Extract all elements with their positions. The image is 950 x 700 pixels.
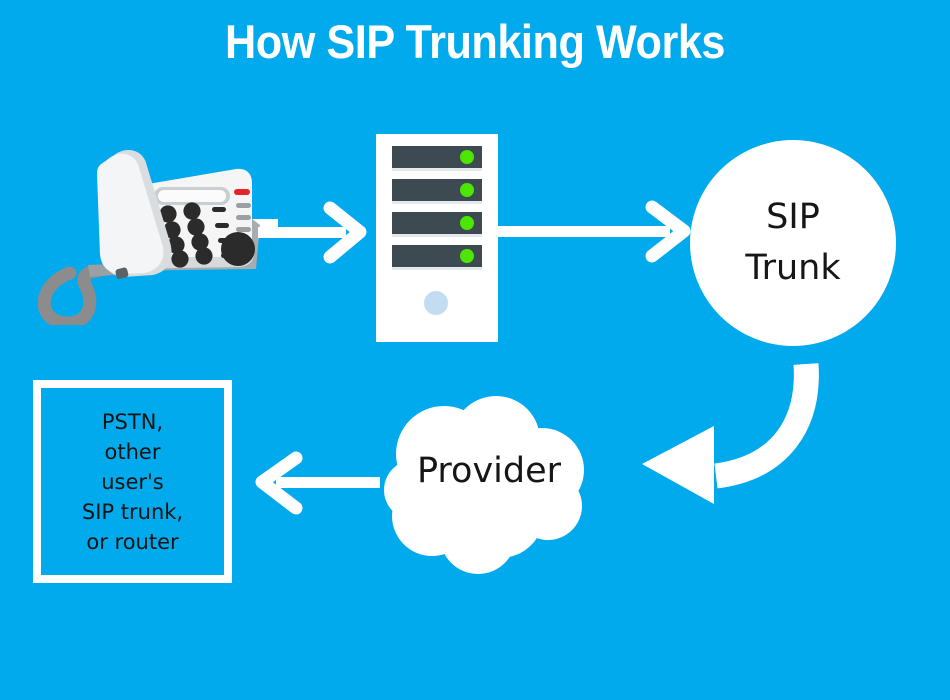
node-provider-label: Provider	[378, 450, 600, 492]
arrow-provider-to-pstn	[248, 448, 380, 518]
arrow-server-to-sip-trunk	[492, 198, 694, 266]
server-power-button-icon	[424, 291, 448, 315]
phone-speaker-button-icon	[221, 232, 255, 266]
pstn-line-3: user's	[101, 467, 164, 497]
node-pstn-box: PSTN, other user's SIP trunk, or router	[33, 380, 232, 583]
phone-indicator-icon	[234, 189, 250, 195]
sip-trunk-line-1: SIP	[766, 192, 820, 243]
pstn-line-1: PSTN,	[102, 407, 163, 437]
pstn-line-2: other	[105, 437, 161, 467]
phone-display-icon	[154, 187, 230, 205]
phone-handset-icon	[77, 145, 177, 286]
sip-trunk-line-2: Trunk	[745, 243, 840, 294]
pstn-line-5: or router	[86, 527, 178, 557]
arrow-sip-trunk-to-provider	[628, 348, 838, 514]
pstn-line-4: SIP trunk,	[82, 497, 183, 527]
server-tower-icon	[376, 134, 498, 342]
desk-phone-icon	[28, 145, 278, 325]
arrow-phone-to-server	[258, 200, 370, 266]
node-sip-trunk: SIP Trunk	[690, 140, 896, 346]
diagram-canvas: How SIP Trunking Works	[0, 0, 950, 700]
page-title: How SIP Trunking Works	[38, 14, 912, 70]
